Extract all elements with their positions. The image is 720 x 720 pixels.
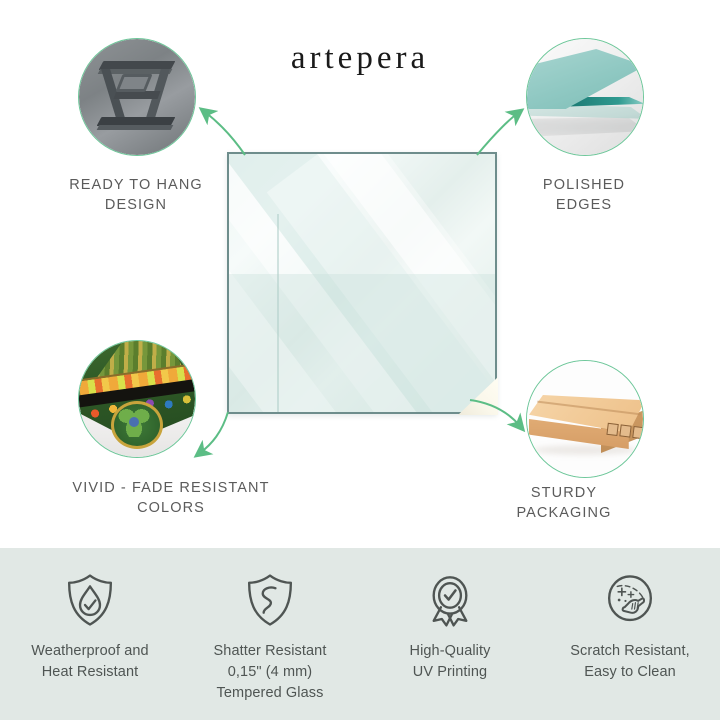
spec-line-1: Shatter Resistant xyxy=(214,641,327,662)
arrow-to-polished-edges xyxy=(477,113,518,155)
glass-reflection-5 xyxy=(227,274,497,414)
mosaic-art-icon xyxy=(79,341,195,457)
caption-vivid-colors: VIVID - FADE RESISTANT COLORS xyxy=(6,478,336,518)
caption-polished-edges: POLISHED EDGES xyxy=(470,175,698,215)
caption-line-1: VIVID - FADE RESISTANT xyxy=(6,478,336,498)
spec-line-2: Easy to Clean xyxy=(570,662,689,683)
sparkle-clean-icon xyxy=(601,571,659,629)
spec-line-1: High-Quality xyxy=(410,641,491,662)
spec-text-shatter-resistant: Shatter Resistant 0,15" (4 mm) Tempered … xyxy=(214,641,327,704)
arrow-to-ready-to-hang xyxy=(205,112,245,155)
spec-line-2: Heat Resistant xyxy=(31,662,148,683)
spec-line-1: Weatherproof and xyxy=(31,641,148,662)
arrow-to-vivid-colors xyxy=(200,412,228,453)
glass-panel-surface xyxy=(227,152,497,414)
caption-line-1: STURDY xyxy=(424,483,704,503)
caption-sturdy-packaging: STURDY PACKAGING xyxy=(424,483,704,523)
spec-row: Weatherproof and Heat Resistant Shatter … xyxy=(0,548,720,720)
bracket-bottom-edge xyxy=(97,125,174,130)
caption-line-2: COLORS xyxy=(6,498,336,518)
glass-panel xyxy=(227,152,497,414)
caption-line-1: POLISHED xyxy=(470,175,698,195)
spec-line-2: 0,15" (4 mm) xyxy=(214,662,327,683)
feature-circle-ready-to-hang xyxy=(78,38,196,156)
glass-edge-icon xyxy=(527,39,643,155)
spec-line-2: UV Printing xyxy=(410,662,491,683)
spec-line-3: Tempered Glass xyxy=(214,683,327,704)
feature-circle-vivid-colors xyxy=(78,340,196,458)
infographic-canvas: artepera xyxy=(0,0,720,720)
hanging-bracket-icon xyxy=(79,39,195,155)
award-check-icon xyxy=(421,571,479,629)
feature-circle-sturdy-packaging xyxy=(526,360,644,478)
spec-item-scratch-resistant: Scratch Resistant, Easy to Clean xyxy=(540,548,720,720)
glass-reflection-6 xyxy=(277,214,279,414)
spec-text-scratch-resistant: Scratch Resistant, Easy to Clean xyxy=(570,641,689,683)
cardboard-box-icon xyxy=(527,361,643,477)
spec-band: Weatherproof and Heat Resistant Shatter … xyxy=(0,548,720,720)
spec-item-shatter-resistant: Shatter Resistant 0,15" (4 mm) Tempered … xyxy=(180,548,360,720)
caption-ready-to-hang: READY TO HANG DESIGN xyxy=(16,175,256,215)
shield-bolt-icon xyxy=(241,571,299,629)
caption-line-2: EDGES xyxy=(470,195,698,215)
caption-line-1: READY TO HANG xyxy=(16,175,256,195)
spec-text-weatherproof: Weatherproof and Heat Resistant xyxy=(31,641,148,683)
caption-line-2: DESIGN xyxy=(16,195,256,215)
spec-item-uv-printing: High-Quality UV Printing xyxy=(360,548,540,720)
mosaic-center xyxy=(129,417,139,427)
feature-circle-polished-edges xyxy=(526,38,644,156)
bracket-middle xyxy=(114,91,161,99)
caption-line-2: PACKAGING xyxy=(424,503,704,523)
spec-text-uv-printing: High-Quality UV Printing xyxy=(410,641,491,683)
spec-item-weatherproof: Weatherproof and Heat Resistant xyxy=(0,548,180,720)
shield-droplet-check-icon xyxy=(61,571,119,629)
spec-line-1: Scratch Resistant, xyxy=(570,641,689,662)
